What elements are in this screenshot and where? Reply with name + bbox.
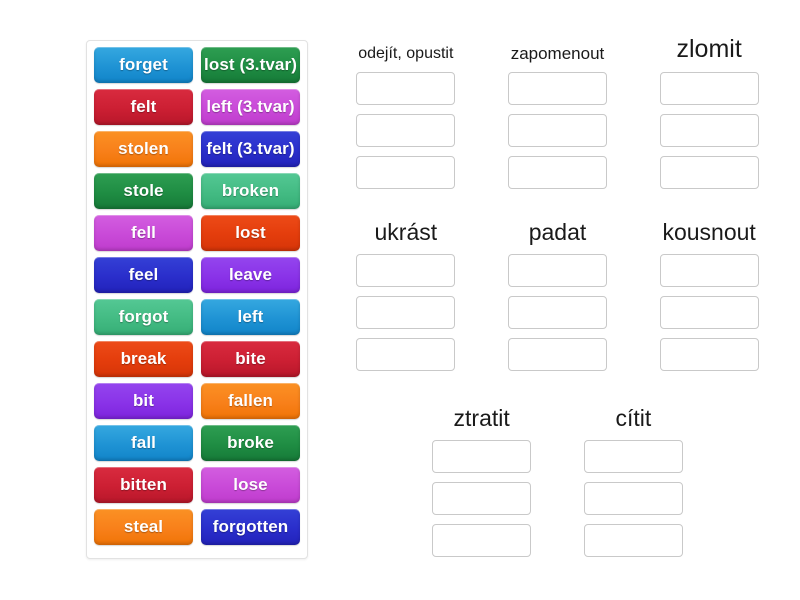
word-tile-tray: forgetlost (3.tvar)feltleft (3.tvar)stol… [86,40,308,559]
word-tile[interactable]: left [201,299,300,335]
answer-group: ukrást [330,214,482,371]
tile-row: forgotleft [94,299,300,335]
tile-row: stolenfelt (3.tvar) [94,131,300,167]
answer-drop-slot[interactable] [508,72,607,105]
word-tile[interactable]: lose [201,467,300,503]
word-tile[interactable]: bit [94,383,193,419]
answer-drop-slot[interactable] [356,254,455,287]
answer-drop-slot[interactable] [660,254,759,287]
word-tile[interactable]: feel [94,257,193,293]
answer-group: zapomenout [482,18,634,189]
group-row-inner: ukrástpadatkousnout [330,214,785,371]
answer-drop-slot[interactable] [660,72,759,105]
group-row-3: ztratitcítit [330,400,785,557]
group-title: ukrást [375,214,438,246]
group-title: cítit [615,400,651,432]
answer-drop-slot[interactable] [356,72,455,105]
answer-drop-slot[interactable] [584,482,683,515]
group-row-inner: odejít, opustitzapomenoutzlomit [330,18,785,189]
group-row-inner: ztratitcítit [330,400,785,557]
answer-group: cítit [558,400,710,557]
word-tile[interactable]: forgot [94,299,193,335]
tile-row: fallbroke [94,425,300,461]
answer-drop-slot[interactable] [356,296,455,329]
slot-stack [336,254,476,371]
group-title: ztratit [454,400,510,432]
group-title: odejít, opustit [358,18,453,64]
answer-drop-slot[interactable] [584,524,683,557]
word-tile[interactable]: stole [94,173,193,209]
tile-row: stolebroken [94,173,300,209]
group-title: zapomenout [511,18,605,64]
tile-row: breakbite [94,341,300,377]
word-tile[interactable]: forgotten [201,509,300,545]
answer-group: ztratit [406,400,558,557]
answer-drop-slot[interactable] [356,156,455,189]
word-tile[interactable]: leave [201,257,300,293]
answer-drop-slot[interactable] [432,440,531,473]
group-title: kousnout [662,214,755,246]
answer-drop-slot[interactable] [660,296,759,329]
slot-stack [639,254,779,371]
word-tile[interactable]: left (3.tvar) [201,89,300,125]
slot-stack [412,440,552,557]
word-tile[interactable]: felt [94,89,193,125]
word-tile[interactable]: fall [94,425,193,461]
word-tile[interactable]: lost (3.tvar) [201,47,300,83]
tile-row: stealforgotten [94,509,300,545]
answer-groups-area: odejít, opustitzapomenoutzlomit ukrástpa… [330,18,785,583]
answer-drop-slot[interactable] [660,114,759,147]
answer-drop-slot[interactable] [584,440,683,473]
word-tile[interactable]: bitten [94,467,193,503]
answer-group: padat [482,214,634,371]
word-tile[interactable]: bite [201,341,300,377]
answer-drop-slot[interactable] [508,338,607,371]
slot-stack [564,440,704,557]
word-tile[interactable]: fell [94,215,193,251]
answer-drop-slot[interactable] [508,296,607,329]
word-tile[interactable]: break [94,341,193,377]
slot-stack [488,72,628,189]
group-row-2: ukrástpadatkousnout [330,214,785,371]
answer-drop-slot[interactable] [432,482,531,515]
word-tile[interactable]: steal [94,509,193,545]
word-tile[interactable]: broke [201,425,300,461]
activity-stage: forgetlost (3.tvar)feltleft (3.tvar)stol… [0,0,800,600]
answer-drop-slot[interactable] [432,524,531,557]
answer-drop-slot[interactable] [508,114,607,147]
tile-row: feelleave [94,257,300,293]
answer-group: odejít, opustit [330,18,482,189]
answer-drop-slot[interactable] [356,338,455,371]
word-tile[interactable]: fallen [201,383,300,419]
tile-row: forgetlost (3.tvar) [94,47,300,83]
word-tile[interactable]: lost [201,215,300,251]
slot-stack [336,72,476,189]
answer-drop-slot[interactable] [660,338,759,371]
word-tile[interactable]: broken [201,173,300,209]
answer-group: zlomit [633,18,785,189]
word-tile[interactable]: forget [94,47,193,83]
group-title: padat [529,214,587,246]
group-row-1: odejít, opustitzapomenoutzlomit [330,18,785,189]
tile-row: bitfallen [94,383,300,419]
answer-drop-slot[interactable] [356,114,455,147]
slot-stack [488,254,628,371]
tile-row: felllost [94,215,300,251]
answer-drop-slot[interactable] [508,156,607,189]
group-title: zlomit [676,18,741,64]
word-tile[interactable]: felt (3.tvar) [201,131,300,167]
tile-row: bittenlose [94,467,300,503]
answer-group: kousnout [633,214,785,371]
word-tile[interactable]: stolen [94,131,193,167]
tile-row: feltleft (3.tvar) [94,89,300,125]
answer-drop-slot[interactable] [660,156,759,189]
answer-drop-slot[interactable] [508,254,607,287]
slot-stack [639,72,779,189]
